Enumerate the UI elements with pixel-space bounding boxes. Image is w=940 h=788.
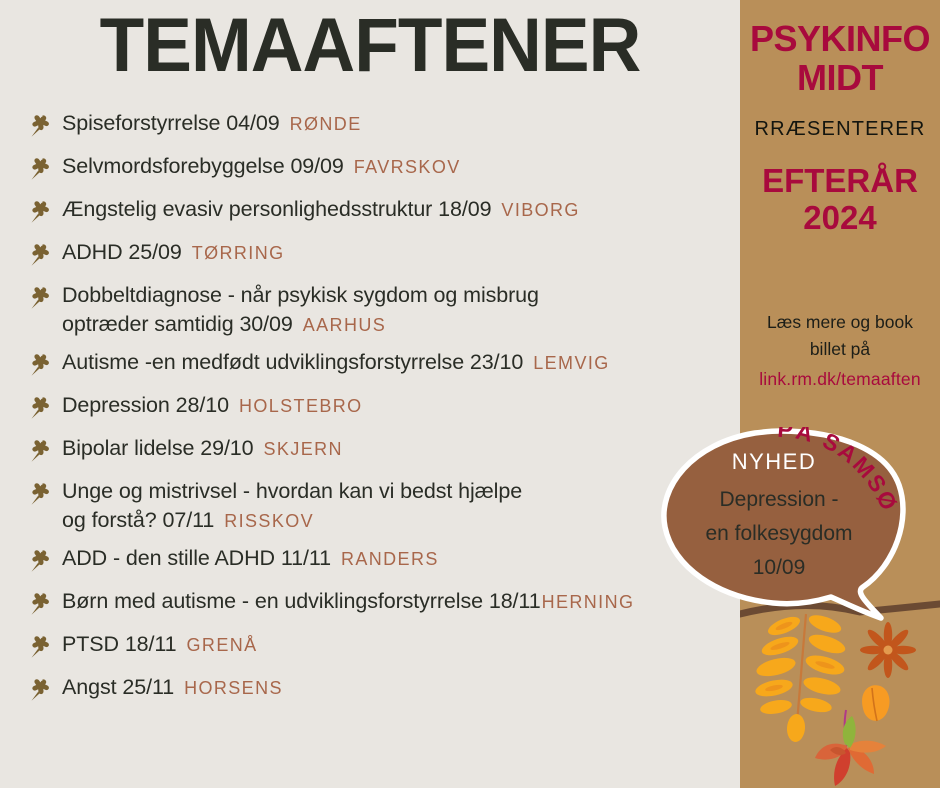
- event-title: Børn med autisme - en udviklingsforstyrr…: [62, 589, 541, 613]
- event-city: LEMVIG: [533, 353, 609, 373]
- pushpin-icon: [26, 545, 56, 575]
- event-title: Angst 25/11: [62, 675, 174, 699]
- season-label: EFTERÅR: [740, 163, 940, 200]
- pushpin-icon: [26, 349, 56, 379]
- event-text: PTSD 18/11GRENÅ: [62, 629, 258, 659]
- list-item[interactable]: Unge og mistrivsel - hvordan kan vi beds…: [26, 476, 740, 534]
- list-item[interactable]: Selvmordsforebyggelse 09/09FAVRSKOV: [26, 151, 740, 185]
- event-title: Ængstelig evasiv personlighedsstruktur 1…: [62, 197, 491, 221]
- brand-name-line2: MIDT: [740, 59, 940, 98]
- bubble-body-text: Depression - en folkesygdom 10/09: [663, 483, 895, 585]
- news-speech-bubble[interactable]: NYHED Depression - en folkesygdom 10/09 …: [655, 425, 940, 640]
- list-item[interactable]: PTSD 18/11GRENÅ: [26, 629, 740, 663]
- pushpin-icon: [26, 478, 56, 508]
- list-item[interactable]: Depression 28/10HOLSTEBRO: [26, 390, 740, 424]
- event-city: TØRRING: [192, 243, 285, 263]
- pushpin-icon: [26, 282, 56, 312]
- event-city: GRENÅ: [187, 635, 258, 655]
- event-city: HOLSTEBRO: [239, 396, 363, 416]
- event-city: RISSKOV: [224, 511, 314, 531]
- pushpin-icon: [26, 110, 56, 140]
- season-year: 2024: [740, 200, 940, 237]
- event-text: Selvmordsforebyggelse 09/09FAVRSKOV: [62, 151, 461, 181]
- list-item[interactable]: Bipolar lidelse 29/10SKJERN: [26, 433, 740, 467]
- bubble-line2: en folkesygdom: [663, 517, 895, 551]
- pushpin-icon: [26, 631, 56, 661]
- sidebar: PSYKINFO MIDT RRÆSENTERER EFTERÅR 2024 L…: [740, 0, 940, 788]
- event-city: HERNING: [542, 592, 635, 612]
- event-text: Depression 28/10HOLSTEBRO: [62, 390, 363, 420]
- event-city: RANDERS: [341, 549, 439, 569]
- event-title: Selvmordsforebyggelse 09/09: [62, 154, 344, 178]
- event-text: ADD - den stille ADHD 11/11RANDERS: [62, 543, 439, 573]
- event-city: SKJERN: [264, 439, 343, 459]
- event-title: Depression 28/10: [62, 393, 229, 417]
- poster-root: TEMAAFTENER Spiseforstyrrelse 04/09RØNDE…: [0, 0, 940, 788]
- pushpin-icon: [26, 674, 56, 704]
- bubble-line1: Depression -: [663, 483, 895, 517]
- event-title: Autisme -en medfødt udviklingsforstyrrel…: [62, 350, 523, 374]
- list-item[interactable]: Autisme -en medfødt udviklingsforstyrrel…: [26, 347, 740, 381]
- list-item[interactable]: ADD - den stille ADHD 11/11RANDERS: [26, 543, 740, 577]
- event-title: PTSD 18/11: [62, 632, 177, 656]
- booking-url-link[interactable]: link.rm.dk/temaaften: [740, 366, 940, 393]
- event-title: Spiseforstyrrelse 04/09: [62, 111, 280, 135]
- presents-label: RRÆSENTERER: [740, 118, 940, 141]
- list-item[interactable]: Dobbeltdiagnose - når psykisk sygdom og …: [26, 280, 740, 338]
- brand-name-line1: PSYKINFO: [740, 20, 940, 59]
- pushpin-icon: [26, 392, 56, 422]
- event-city: AARHUS: [303, 315, 386, 335]
- event-text: Unge og mistrivsel - hvordan kan vi beds…: [62, 476, 522, 534]
- event-title: ADD - den stille ADHD 11/11: [62, 546, 331, 570]
- list-item[interactable]: Børn med autisme - en udviklingsforstyrr…: [26, 586, 740, 620]
- main-content-column: TEMAAFTENER Spiseforstyrrelse 04/09RØNDE…: [0, 0, 740, 788]
- event-title: Dobbeltdiagnose - når psykisk sygdom og …: [62, 281, 539, 310]
- list-item[interactable]: Spiseforstyrrelse 04/09RØNDE: [26, 108, 740, 142]
- event-city: FAVRSKOV: [354, 157, 461, 177]
- event-list: Spiseforstyrrelse 04/09RØNDE Selvmordsfo…: [26, 108, 740, 715]
- booking-info: Læs mere og book billet på link.rm.dk/te…: [740, 309, 940, 393]
- page-title: TEMAAFTENER: [15, 6, 725, 86]
- event-title: Unge og mistrivsel - hvordan kan vi beds…: [62, 477, 522, 506]
- event-text: Bipolar lidelse 29/10SKJERN: [62, 433, 343, 463]
- pushpin-icon: [26, 435, 56, 465]
- event-text: Dobbeltdiagnose - når psykisk sygdom og …: [62, 280, 539, 338]
- list-item[interactable]: Angst 25/11HORSENS: [26, 672, 740, 706]
- pushpin-icon: [26, 588, 56, 618]
- event-text: ADHD 25/09TØRRING: [62, 237, 285, 267]
- event-city: RØNDE: [290, 114, 362, 134]
- nyhed-badge: NYHED: [655, 449, 893, 475]
- event-text: Autisme -en medfødt udviklingsforstyrrel…: [62, 347, 610, 377]
- bubble-content: NYHED Depression - en folkesygdom 10/09 …: [655, 425, 940, 640]
- event-title-cont: optræder samtidig 30/09: [62, 312, 293, 336]
- event-title: Bipolar lidelse 29/10: [62, 436, 254, 460]
- list-item[interactable]: ADHD 25/09TØRRING: [26, 237, 740, 271]
- bubble-line3: 10/09: [663, 551, 895, 585]
- list-item[interactable]: Ængstelig evasiv personlighedsstruktur 1…: [26, 194, 740, 228]
- event-text: Angst 25/11HORSENS: [62, 672, 283, 702]
- event-title-cont: og forstå? 07/11: [62, 508, 214, 532]
- booking-line1: Læs mere og book: [767, 312, 913, 332]
- event-city: VIBORG: [501, 200, 579, 220]
- pushpin-icon: [26, 153, 56, 183]
- pushpin-icon: [26, 196, 56, 226]
- event-text: Ængstelig evasiv personlighedsstruktur 1…: [62, 194, 580, 224]
- event-text: Spiseforstyrrelse 04/09RØNDE: [62, 108, 362, 138]
- event-title: ADHD 25/09: [62, 240, 182, 264]
- event-city: HORSENS: [184, 678, 283, 698]
- event-text: Børn med autisme - en udviklingsforstyrr…: [62, 586, 634, 616]
- booking-line2: billet på: [810, 339, 870, 359]
- pushpin-icon: [26, 239, 56, 269]
